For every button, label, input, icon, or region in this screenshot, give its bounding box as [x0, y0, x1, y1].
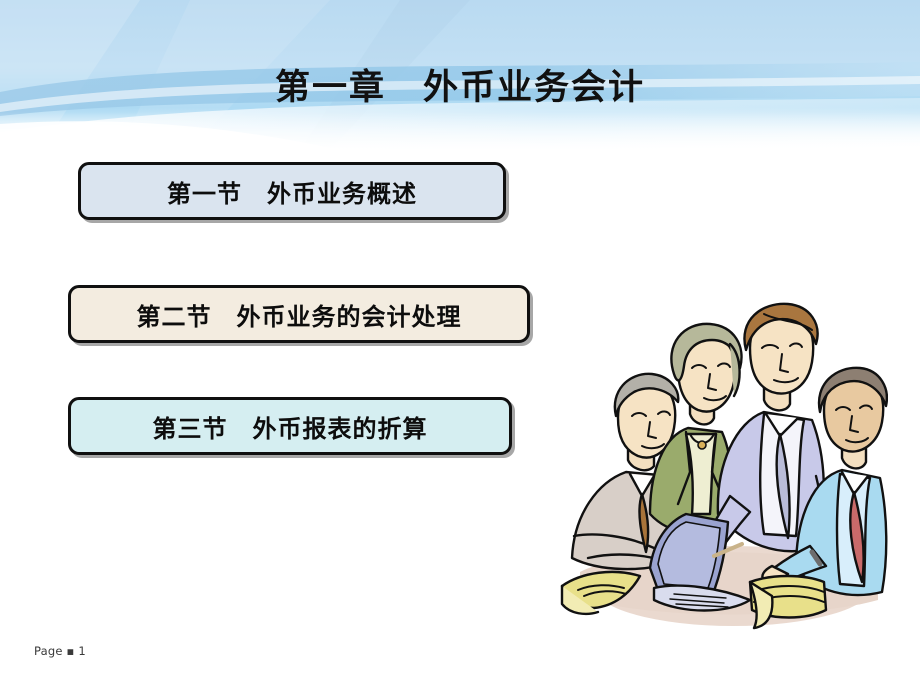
section-box-1[interactable]: 第一节 外币业务概述 [78, 162, 506, 220]
section-box-3-label: 第三节 外币报表的折算 [153, 409, 428, 444]
section-box-1-label: 第一节 外币业务概述 [167, 174, 417, 209]
section-box-2-label: 第二节 外币业务的会计处理 [137, 297, 462, 332]
section-box-2[interactable]: 第二节 外币业务的会计处理 [68, 285, 530, 343]
page-number-footer: Page ▪ 1 [34, 644, 86, 658]
slide-title: 第一章 外币业务会计 [0, 66, 920, 110]
section-box-3[interactable]: 第三节 外币报表的折算 [68, 397, 512, 455]
business-people-laptop-illustration [558, 300, 888, 635]
slide-canvas: 第一章 外币业务会计 第一节 外币业务概述 第二节 外币业务的会计处理 第三节 … [0, 0, 920, 690]
